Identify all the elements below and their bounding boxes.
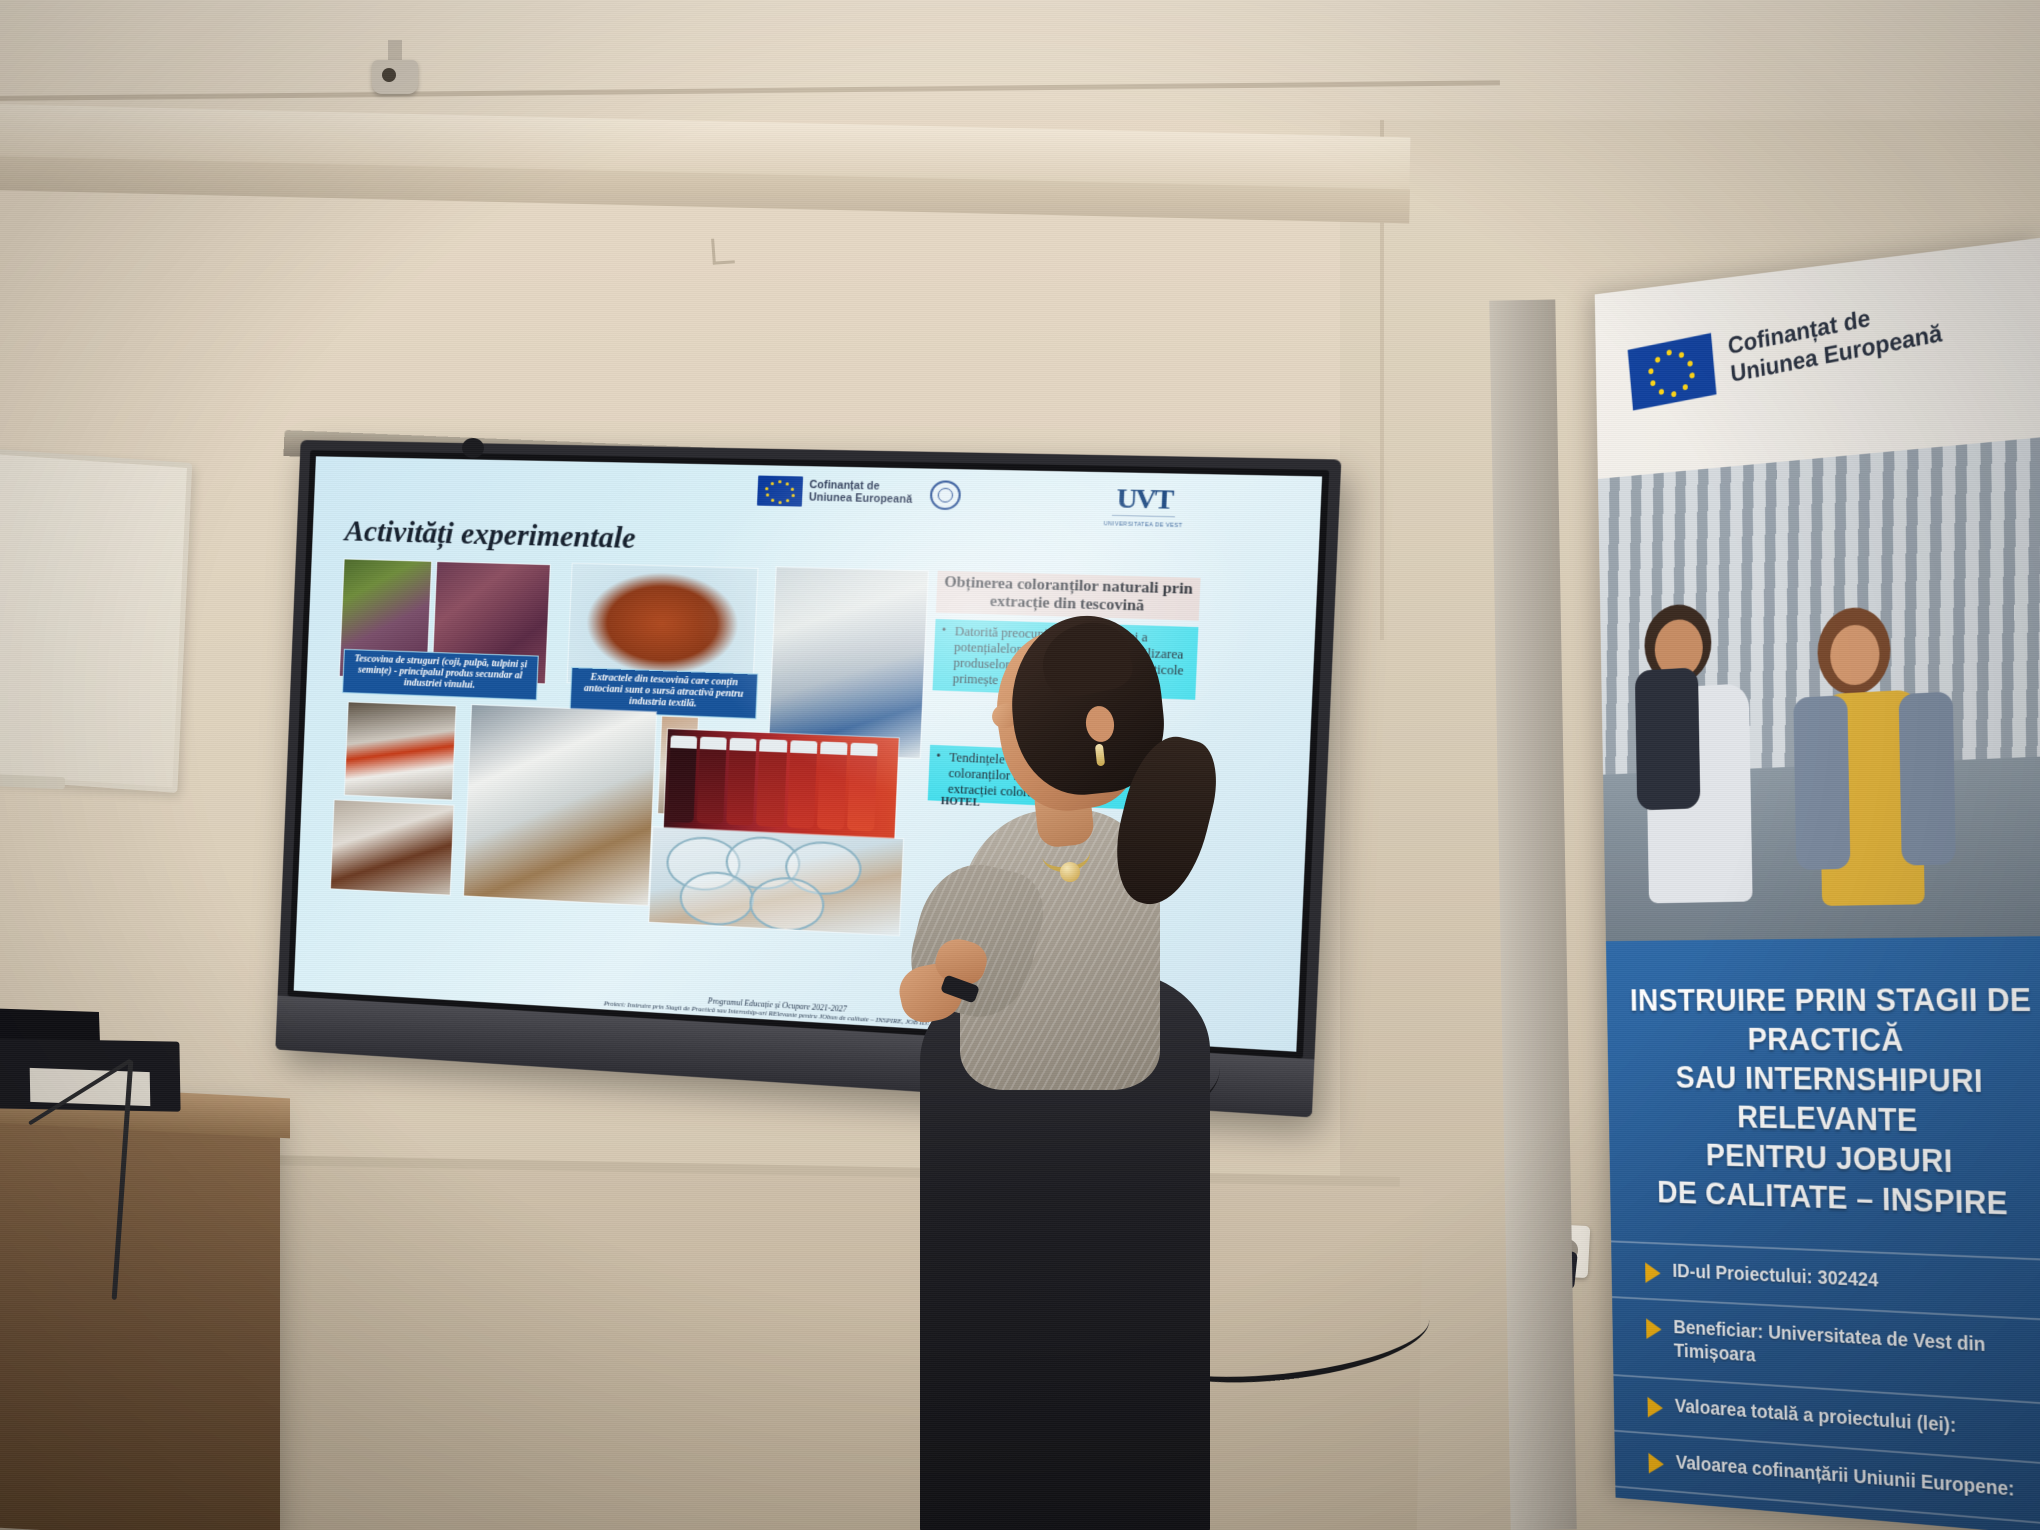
banner-info-list: ID-ul Proiectului: 302424 Beneficiar: Un… [1611,1241,2040,1530]
wall-scuff-mark [711,237,735,264]
banner-eu-text: Cofinanțat de Uniunea Europeană [1727,290,1944,389]
necklace-pendant [1060,862,1080,882]
eu-cofinance-text: Cofinanțat de Uniunea Europeană [809,480,913,506]
room-ceiling [0,0,2040,120]
rollup-banner: Cofinanțat de Uniunea Europeană [1595,237,2040,1530]
eu-line-2: Uniunea Europeană [809,492,913,506]
banner-title: INSTRUIRE PRIN STAGII DE PRACTICĂ SAU IN… [1607,980,2040,1226]
dyed-fabric-petri-dishes-photo [648,826,904,936]
banner-blue-panel: INSTRUIRE PRIN STAGII DE PRACTICĂ SAU IN… [1606,936,2040,1530]
rotary-evaporator-photo [463,704,657,906]
hotplate-extraction-photo [344,701,457,800]
romanian-government-seal-icon [929,480,961,510]
triangle-bullet-icon [1648,1453,1664,1475]
extract-test-tubes-photo [663,728,900,840]
triangle-bullet-icon [1646,1319,1662,1340]
eu-flag-icon [757,476,803,507]
uvt-logo: UVT UNIVERSITATEA DE VEST [1104,485,1185,529]
uvt-subtitle: UNIVERSITATEA DE VEST [1104,521,1183,529]
eu-cofinance-logo: Cofinanțat de Uniunea Europeană [757,476,961,511]
denim-jacket [1793,695,1850,870]
banner-eu-logo: Cofinanțat de Uniunea Europeană [1628,266,2040,411]
banner-title-line: SAU INTERNSHIPURI RELEVANTE [1620,1058,2040,1144]
smoke-detector-icon [372,60,418,94]
wooden-podium [0,1097,280,1530]
info-box-title: Obținerea coloranților naturali prin ext… [936,571,1201,621]
banner-list-item-label: ID-ul Proiectului: 302424 [1672,1260,1878,1294]
students-outdoors-photo [1598,437,2040,960]
whiteboard [0,447,192,793]
banner-title-line: INSTRUIRE PRIN STAGII DE PRACTICĂ [1618,980,2040,1062]
banner-list-item-label: Beneficiar: Universitatea de Vest din Ti… [1673,1317,2040,1388]
students-in-lab-photo [768,566,929,759]
uvt-divider [1112,515,1175,518]
backpack [1635,667,1701,810]
triangle-bullet-icon [1647,1397,1663,1419]
triangle-bullet-icon [1645,1263,1661,1284]
uvt-mark: UVT [1104,485,1184,514]
glassware-samples-photo [330,799,455,896]
denim-jacket [1899,691,1956,865]
photo-caption-1: Tescovina de struguri (coji, pulpă, tulp… [342,649,539,700]
eu-flag-icon [1628,333,1717,411]
presentation-room-scene: Cofinanțat de Uniunea Europeană UVT UNIV… [0,0,2040,1530]
banner-list-item-label: Valoarea totală a proiectului (lei): [1675,1395,1957,1439]
presenter-speaking [950,640,1240,1530]
